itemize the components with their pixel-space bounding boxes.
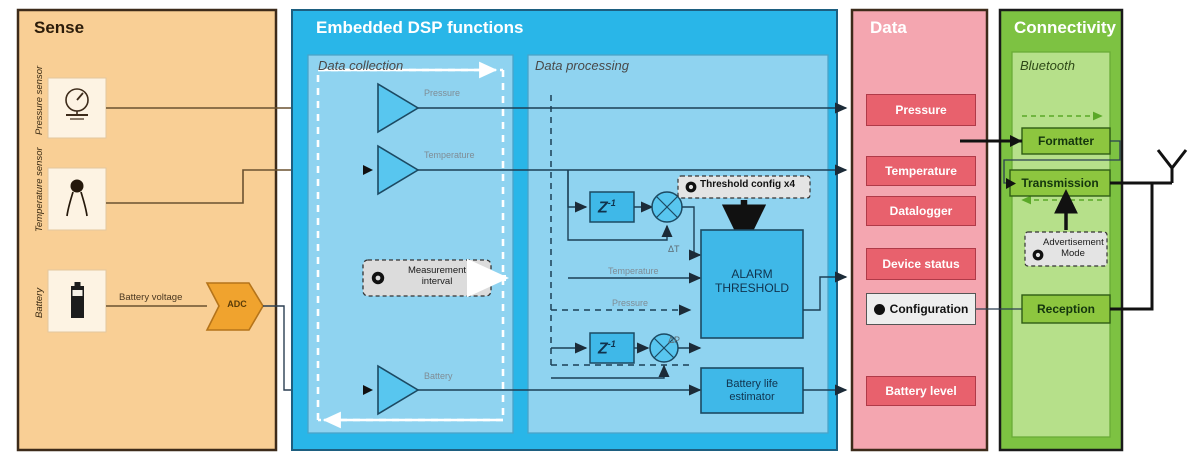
gear-icon	[686, 182, 697, 193]
alarm-threshold-block[interactable]	[701, 230, 803, 338]
data-item-datalogger[interactable]: Datalogger	[866, 196, 976, 226]
advertisement-mode-box[interactable]	[1025, 232, 1107, 266]
pressure-sensor-tile[interactable]	[48, 78, 106, 138]
delay-block-temperature[interactable]	[590, 192, 634, 222]
battery-icon	[71, 282, 84, 318]
antenna-icon	[1158, 150, 1186, 183]
diagram-svg	[0, 0, 1200, 460]
transmission-block[interactable]	[1010, 170, 1110, 196]
formatter-block[interactable]	[1022, 128, 1110, 154]
battery-life-estimator-block[interactable]	[701, 368, 803, 413]
temperature-sensor-tile[interactable]	[48, 168, 106, 230]
data-item-temperature[interactable]: Temperature	[866, 156, 976, 186]
gear-icon	[1033, 250, 1044, 261]
delay-block-pressure[interactable]	[590, 333, 634, 363]
data-item-device-status[interactable]: Device status	[866, 248, 976, 280]
gear-icon	[874, 304, 885, 315]
data-item-battery-level[interactable]: Battery level	[866, 376, 976, 406]
gear-icon	[372, 272, 384, 284]
diagram-canvas: Sense Pressure sensor Temperature sensor…	[0, 0, 1200, 460]
data-item-pressure[interactable]: Pressure	[866, 94, 976, 126]
reception-block[interactable]	[1022, 295, 1110, 323]
data-item-configuration[interactable]: Configuration	[866, 293, 976, 325]
threshold-config-box[interactable]	[678, 176, 810, 198]
